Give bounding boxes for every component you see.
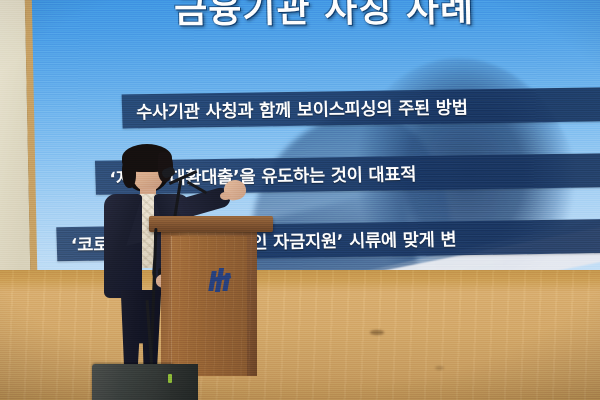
podium <box>155 216 267 376</box>
institution-emblem-icon <box>209 268 235 294</box>
podium-front-panel <box>171 236 247 376</box>
floor-mark-secondary <box>435 366 444 370</box>
speaker-thumb <box>220 192 231 200</box>
floor-monitor-side <box>170 364 198 400</box>
briefing-photo: 금융기관 사칭 사례 수사기관 사칭과 함께 보이스피싱의 주된 방법 ‘저금리… <box>0 0 600 400</box>
stage-floor <box>0 270 600 400</box>
floor-monitor-speaker <box>92 364 174 400</box>
speaker-hair-side-left <box>122 156 136 188</box>
floor-wood-grain <box>0 270 600 400</box>
floor-mark <box>370 330 384 335</box>
monitor-power-led-icon <box>168 374 172 383</box>
podium-lectern-top <box>149 216 273 232</box>
podium-front-grain <box>171 236 247 376</box>
speaker-jacket-left <box>104 194 142 298</box>
